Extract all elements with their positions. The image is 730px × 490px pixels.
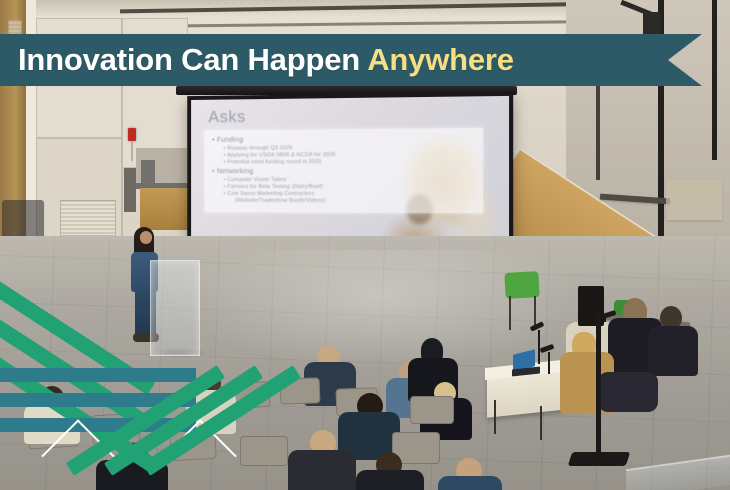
slide-item: Cow Savvy Marketing Contractors: [224, 191, 477, 197]
acrylic-podium: [150, 260, 200, 356]
slide-heading-networking: Networking: [212, 166, 477, 176]
wall-recess: [124, 168, 136, 212]
banner-text-main: Innovation Can Happen: [18, 42, 367, 77]
fire-alarm-conduit: [131, 141, 133, 161]
table-leg: [494, 400, 496, 434]
presenter-face: [140, 231, 152, 244]
title-banner: Innovation Can Happen Anywhere: [0, 34, 702, 86]
slide-item: Potential seed funding round in 2025: [224, 158, 477, 165]
microphone-stand: [538, 330, 540, 364]
slide-heading-funding: Funding: [212, 133, 477, 144]
green-chair: [504, 271, 539, 299]
folding-chair: [280, 377, 321, 404]
slide-item: Runway through Q3 2025: [224, 144, 477, 151]
microphone-stand: [548, 352, 550, 374]
slide-body: Funding Runway through Q3 2025 Applying …: [204, 128, 483, 214]
slide-item: Computer Vision Talent: [224, 176, 477, 182]
speaker-stand-base: [568, 452, 631, 466]
folding-chair: [410, 396, 454, 424]
counter-cabinet: [141, 160, 155, 184]
fire-alarm-icon: [128, 128, 136, 141]
slide-item: Farmers for Beta Testing (Dairy/Beef): [224, 184, 477, 190]
wall-segment: [666, 180, 722, 220]
banner-text-accent: Anywhere: [367, 42, 514, 77]
structural-post: [712, 0, 717, 160]
wall-vent: [60, 200, 116, 236]
folding-chair: [169, 429, 217, 461]
slide-title: Asks: [208, 104, 498, 127]
folding-chair: [91, 413, 141, 445]
slide-item: Applying for USDA SBIR & NCDA for 2025: [224, 151, 477, 158]
banner-text: Innovation Can Happen Anywhere: [18, 42, 514, 78]
table-leg: [540, 406, 542, 440]
folding-chair: [240, 436, 288, 466]
chair-leg: [509, 296, 511, 330]
speaker-stand: [596, 310, 601, 460]
slide-item-continuation: (Website/Tradeshow Booth/Videos): [235, 198, 477, 204]
promo-graphic: Asks Funding Runway through Q3 2025 Appl…: [0, 0, 730, 490]
